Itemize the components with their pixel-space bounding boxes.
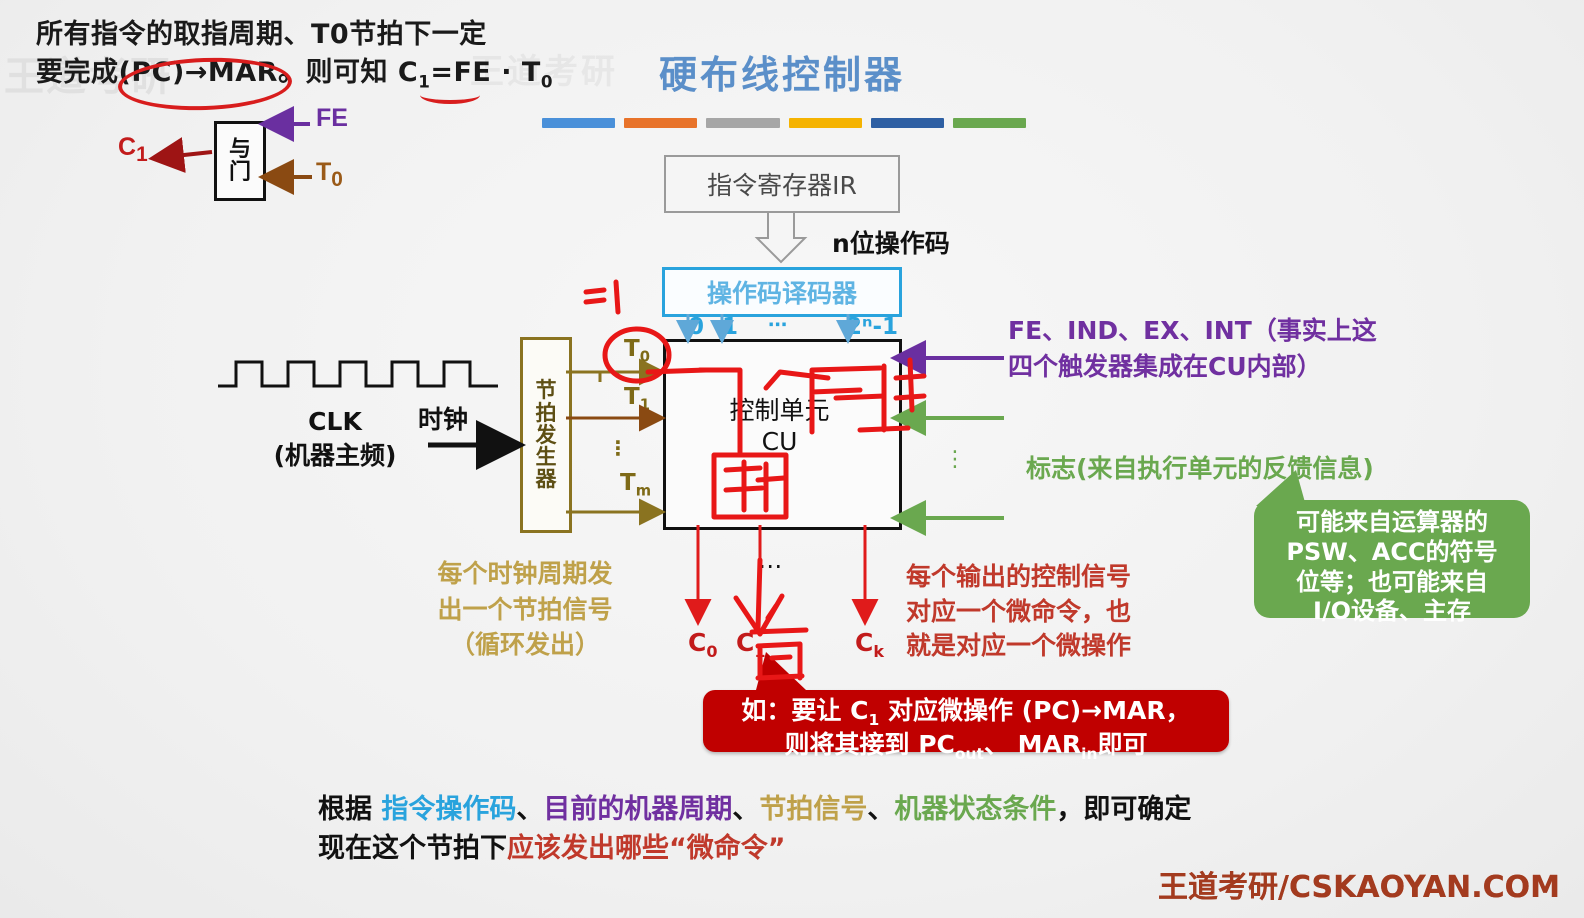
bottom-summary-line2: 现在这个节拍下应该发出哪些“微命令” [318,829,1338,868]
flag-input-dots: ⋮ [944,450,966,468]
n-bit-opcode-label: n位操作码 [832,224,950,260]
and-gate-input-fe-label: FE [316,104,348,133]
color-bar-4 [789,118,862,128]
note-line2-c: =FE · T [430,57,541,88]
ink-one [616,282,618,312]
cu-label-line1: 控制单元 [663,395,896,426]
beat-signal-t0-label: T0 [624,336,650,366]
flip-flop-annotation-line1: FE、IND、EX、INT（事实上这 [1008,313,1428,349]
slide-canvas: 王道考研 王道考研 王道考研/CSKAOYAN.COM 硬布线控制器 所有指令的… [0,0,1584,918]
and-gate-label-2: 门 [229,161,251,184]
clock-arrow-label: 时钟 [418,400,468,436]
note-line2-b: 。则可知 C [278,57,418,88]
decoder-output-labels: 0 1 ⋯ 2ⁿ-1 [660,314,910,340]
and-gate-input-t0-label: T0 [316,158,343,192]
color-bar-3 [706,118,779,128]
page-title: 硬布线控制器 [542,44,1022,99]
beat-gen-c5: 器 [536,468,557,490]
and-gate-label-1: 与 [229,138,251,161]
top-left-note: 所有指令的取指周期、T0节拍下一定 要完成(PC)→MAR。则可知 C1=FE … [36,16,556,94]
beat-annotation-line3: （循环发出） [400,627,650,663]
control-annotation-line2: 对应一个微命令，也 [906,595,1206,630]
note-line-1: 所有指令的取指周期、T0节拍下一定 [36,16,556,54]
arrow-gate-to-c1 [156,152,212,158]
clk-sublabel: (机器主频) [220,439,450,473]
beat-gen-c4: 生 [536,446,557,468]
beat-gen-c1: 节 [536,379,557,401]
control-output-c0-label: C0 [688,628,718,661]
control-signal-annotation: 每个输出的控制信号 对应一个微命令，也 就是对应一个微操作 [906,560,1206,664]
note-line2-a: 要完成 [36,57,119,88]
clk-label-group: CLK (机器主频) [220,405,450,473]
ir-to-decoder-fat-arrow [757,212,805,262]
clk-label: CLK [220,405,450,439]
color-bar-1 [542,118,615,128]
ink-equals [586,290,604,302]
clk-waveform [218,362,498,386]
flag-source-callout: 可能来自运算器的 PSW、ACC的符号 位等；也可能来自 I/O设备、主存 [1254,500,1530,618]
and-gate-box: 与 门 [214,121,266,201]
bottom-summary-line1: 根据 指令操作码、目前的机器周期、节拍信号、机器状态条件，即可确定 [318,790,1338,829]
microcommand-callout: 如：要让 C1 对应微操作 (PC)→MAR， 则将其接到 PCout、 MAR… [703,690,1229,752]
control-output-ck-label: Ck [855,628,884,661]
note-line2-sub2: 0 [541,72,553,92]
flag-callout-line3: 位等；也可能来自 [1260,568,1524,598]
watermark-brand: 王道考研/CSKAOYAN.COM [1158,862,1560,906]
red-ink-underline-fe [420,86,480,104]
bottom-summary-text: 根据 指令操作码、目前的机器周期、节拍信号、机器状态条件，即可确定 现在这个节拍… [318,790,1338,868]
beat-gen-c2: 拍 [536,402,557,424]
color-bar-5 [871,118,944,128]
decoder-out-dots: ⋯ [768,314,787,336]
flip-flop-annotation: FE、IND、EX、INT（事实上这 四个触发器集成在CU内部） [1008,313,1428,386]
beat-signal-dots: ⋮ [608,440,628,456]
decoder-out-0: 0 [688,314,704,340]
beat-signal-t1-label: T1 [624,384,650,414]
decoder-out-max: 2ⁿ-1 [846,314,898,340]
control-annotation-line3: 就是对应一个微操作 [906,629,1206,664]
beat-gen-c3: 发 [536,424,557,446]
flag-callout-line4: I/O设备、主存 [1260,597,1524,627]
beat-annotation-line2: 出一个节拍信号 [400,592,650,628]
flip-flop-annotation-line2: 四个触发器集成在CU内部） [1008,349,1428,385]
beat-generator-box: 节 拍 发 生 器 [520,337,572,533]
control-output-c1-label: C1 [736,628,766,661]
control-annotation-line1: 每个输出的控制信号 [906,560,1206,595]
flag-callout-line1: 可能来自运算器的 [1260,508,1524,538]
color-bar-2 [624,118,697,128]
color-bar-6 [953,118,1026,128]
title-color-bars [542,118,1026,128]
flag-annotation: 标志(来自执行单元的反馈信息) [1026,449,1476,485]
and-gate-output-c1-label: C1 [118,133,148,167]
beat-signal-tm-label: Tm [620,470,651,500]
beat-signal-annotation: 每个时钟周期发 出一个节拍信号 （循环发出） [400,556,650,663]
microcommand-callout-line2: 则将其接到 PCout、 MARin即可 [711,730,1221,764]
control-unit-label: 控制单元 CU [663,395,896,458]
opcode-decoder-box: 操作码译码器 [662,267,902,317]
microcommand-callout-line1: 如：要让 C1 对应微操作 (PC)→MAR， [711,696,1221,730]
ink-one2 [910,360,912,410]
beat-annotation-line1: 每个时钟周期发 [400,556,650,592]
decoder-out-1: 1 [722,314,738,340]
control-output-dots: ⋯ [758,552,784,581]
instruction-register-box: 指令寄存器IR [664,155,900,213]
flag-callout-line2: PSW、ACC的符号 [1260,538,1524,568]
cu-label-line2: CU [663,426,896,457]
